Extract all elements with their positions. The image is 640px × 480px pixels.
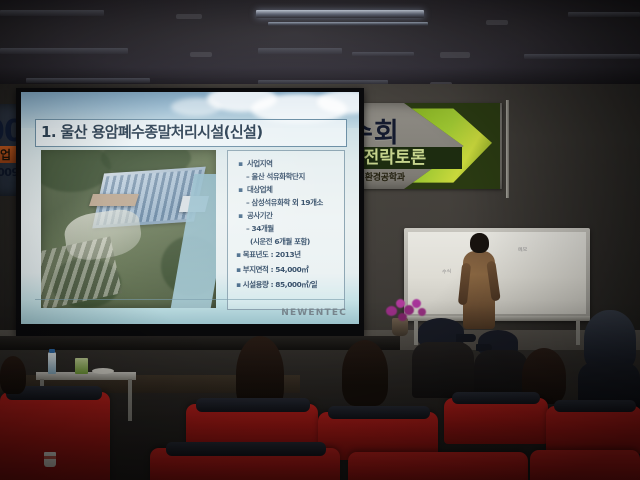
ceiling-light-tube: [258, 48, 342, 54]
slide-aerial-photo: [41, 150, 216, 308]
paper-cup-band: [44, 456, 56, 459]
ceiling-light-tube: [568, 12, 640, 17]
banner-swoosh-graphic: [404, 103, 500, 189]
slide-footer-rule: [35, 299, 345, 300]
red-auditorium-seat: [530, 450, 640, 480]
person-torso: [412, 342, 474, 398]
slide-bullet: ▪ 부지면적 : 54,000㎡: [236, 265, 308, 274]
photo-building: [89, 194, 139, 206]
green-container: [75, 358, 88, 374]
seat-headrest: [554, 400, 636, 412]
slide-bullet: ▪ 목표년도 : 2013년: [236, 250, 301, 259]
seat-headrest: [328, 406, 430, 419]
ceiling-vent: [176, 14, 202, 19]
red-auditorium-seat: [546, 406, 640, 454]
table-leg: [128, 379, 132, 421]
whiteboard-note-left: 수식: [442, 268, 452, 276]
plate: [92, 368, 114, 374]
ceiling-light-tube: [26, 78, 150, 83]
seat-headrest: [452, 392, 540, 404]
audience-member: [0, 356, 34, 416]
slide-bullet: ▪ 공사기간: [238, 211, 273, 220]
whiteboard-leg: [576, 321, 580, 345]
slide-bullet-panel: ▪ 사업지역 – 울산 석유화학단지 ▪ 대상업체 – 삼성석유화학 외 19개…: [227, 150, 345, 310]
person-head: [584, 310, 636, 370]
flower-bloom: [398, 313, 407, 321]
bottle-cap-icon: [49, 349, 55, 353]
presenter-head: [470, 233, 489, 253]
person-head: [342, 340, 388, 406]
slide-bullet: ▪ 대상업체: [238, 185, 273, 194]
slide-bullet: – 삼성석유화학 외 19개소: [246, 198, 323, 207]
cap-brim: [456, 334, 476, 342]
slide-bullet: ▪ 사업지역: [238, 159, 273, 168]
red-auditorium-seat: [348, 452, 528, 480]
slide-cloud: [171, 98, 221, 116]
ceiling-vent: [486, 20, 508, 25]
ceiling-light-tube: [0, 48, 128, 54]
paper-cup: [44, 452, 56, 467]
audience-member: [412, 318, 474, 392]
red-auditorium-seat: [444, 398, 548, 444]
ceiling-light-tube: [268, 22, 428, 26]
ceiling-light-tube: [352, 52, 414, 56]
banner-support-pole: [506, 100, 509, 198]
slide-bullet: – 34개월: [246, 224, 274, 233]
slide-title: 1. 울산 용암폐수종말처리시설(신설): [41, 121, 341, 143]
audience-member: [336, 340, 394, 410]
seat-headrest: [196, 398, 310, 412]
slide-bullet: – 울산 석유화학단지: [246, 172, 305, 181]
flower-bloom: [418, 308, 426, 316]
whiteboard-note-right: 메모: [518, 246, 528, 254]
banner-left-highlight-text: 업: [0, 146, 11, 163]
ceiling-light-tube: [524, 54, 640, 59]
flower-bloom: [386, 306, 397, 316]
flower-bloom: [412, 299, 421, 308]
presenter: [462, 233, 496, 329]
ceiling-vent: [440, 52, 470, 58]
ceiling-vent: [190, 52, 212, 57]
seat-headrest: [166, 442, 326, 456]
water-bottle: [48, 352, 56, 374]
banner-right: 수회 공전락토론 학교 환경공학과: [340, 103, 502, 189]
slide-logo: NEWENTEC: [281, 308, 347, 318]
presentation-slide: 1. 울산 용암폐수종말처리시설(신설) ▪ 사업지역 – 울산 석유화학단지 …: [21, 92, 359, 324]
slide-bullet: ▪ 시설용량 : 85,000㎥/일: [236, 280, 317, 289]
ceiling-light-tube: [256, 10, 424, 18]
projection-screen: 1. 울산 용암폐수종말처리시설(신설) ▪ 사업지역 – 울산 석유화학단지 …: [21, 92, 359, 324]
ceiling-light-tube: [0, 10, 104, 16]
lecture-hall-photo: 00 업 2009. 수회 공전락토론 학교 환경공학과 1. 울산 용암폐수종…: [0, 0, 640, 480]
slide-bullet: (시운전 6개월 포함): [250, 237, 310, 246]
audience-member: [582, 310, 640, 402]
person-head: [0, 356, 26, 394]
